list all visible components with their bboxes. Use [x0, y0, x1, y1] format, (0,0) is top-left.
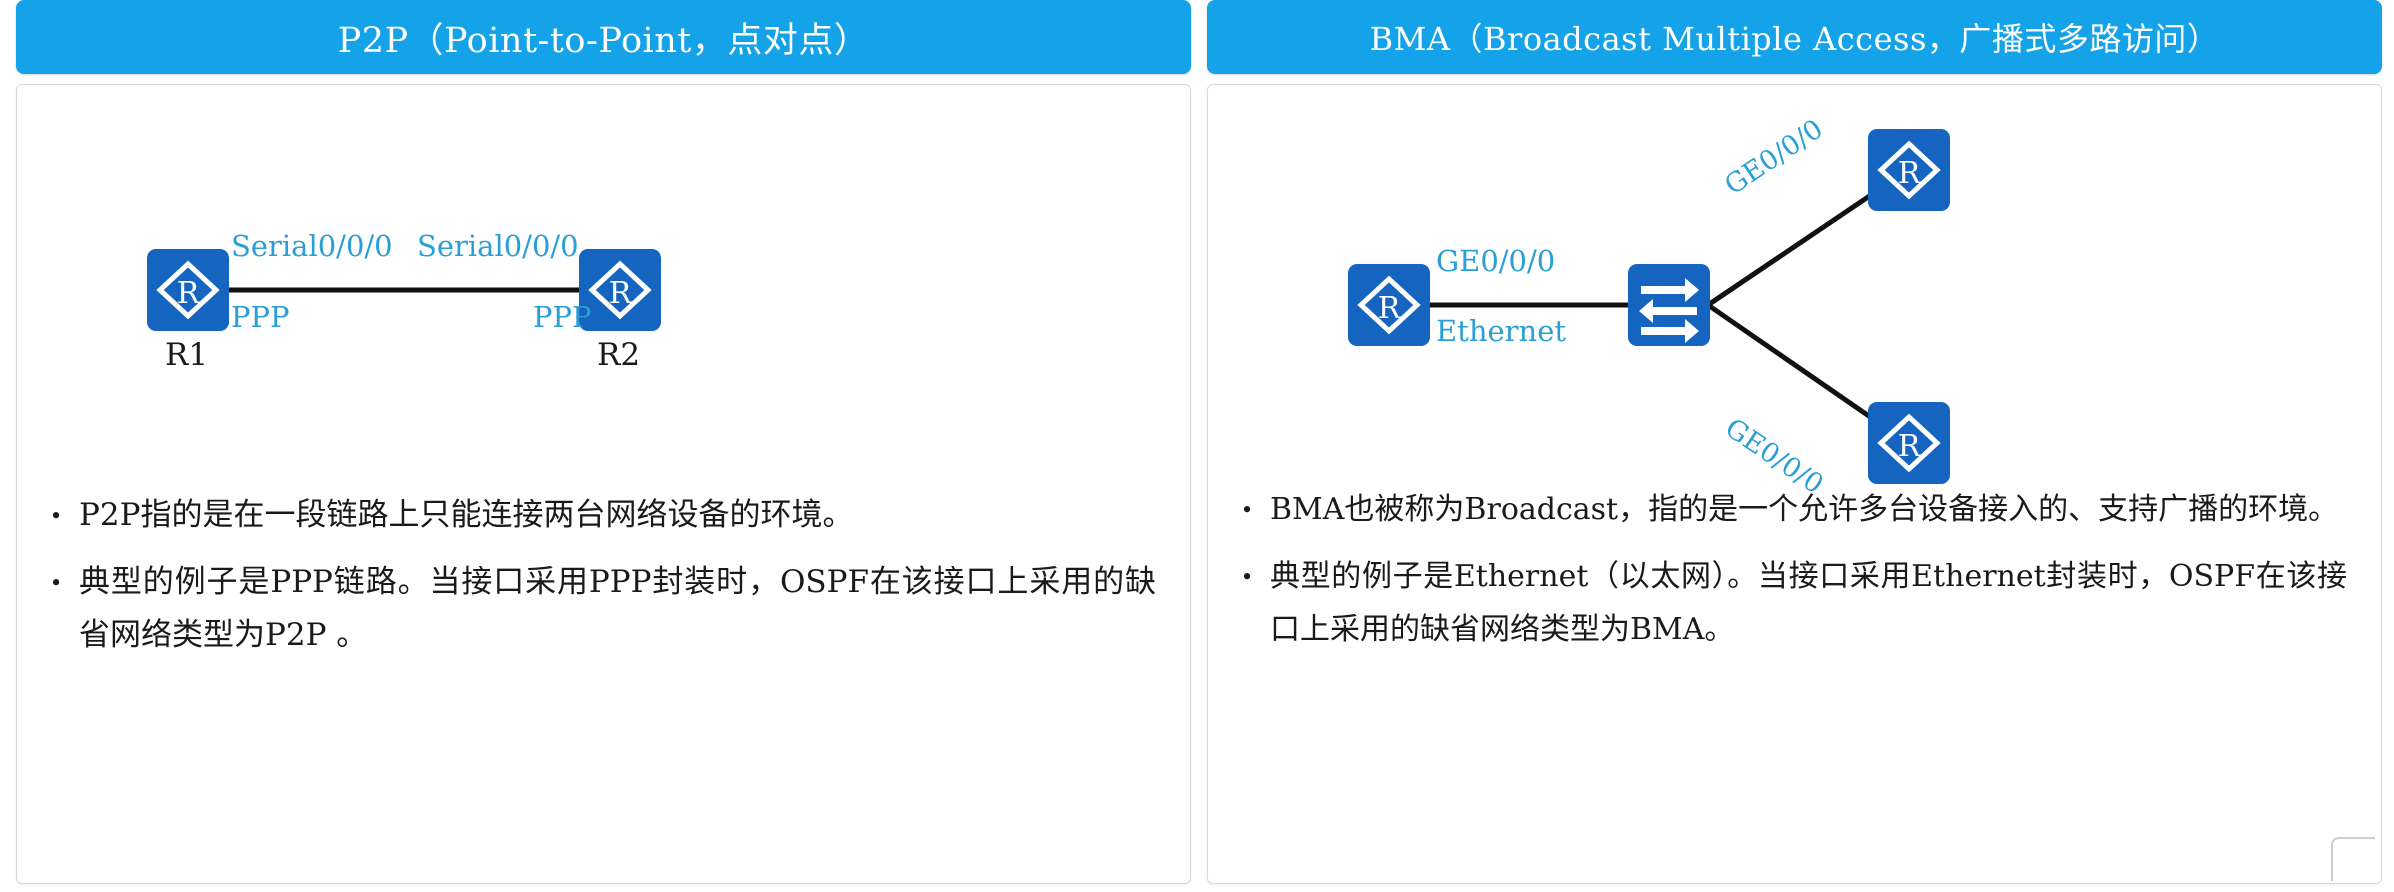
svg-text:R: R	[609, 276, 633, 311]
label-p2p-left-interface: Serial0/0/0	[231, 229, 393, 263]
panel-p2p-header: P2P（Point-to-Point，点对点）	[16, 0, 1191, 74]
svg-text:R: R	[1898, 429, 1922, 464]
bma-bullet-list: • BMA也被称为Broadcast，指的是一个允许多台设备接入的、支持广播的环…	[1208, 483, 2381, 670]
panel-p2p-body: R R Serial0/0/0 Serial0/0/0 PPP PPP R1 R…	[16, 84, 1191, 884]
panel-bma-body: R R	[1207, 84, 2382, 884]
svg-text:R: R	[177, 276, 201, 311]
panel-bma-header: BMA（Broadcast Multiple Access，广播式多路访问）	[1207, 0, 2382, 74]
svg-text:R: R	[1378, 291, 1402, 326]
svg-text:R: R	[1898, 156, 1922, 191]
panel-bma: BMA（Broadcast Multiple Access，广播式多路访问） R	[1207, 0, 2382, 892]
label-router-name-r2: R2	[597, 337, 640, 373]
bullet-marker: •	[33, 556, 79, 609]
label-bma-left-encapsulation: Ethernet	[1436, 314, 1566, 348]
bma-topology-diagram: R R	[1208, 85, 2381, 495]
bullet-marker: •	[1224, 550, 1270, 603]
switch-icon[interactable]	[1628, 264, 1710, 346]
p2p-bullet-2: 典型的例子是PPP链路。当接口采用PPP封装时，OSPF在该接口上采用的缺省网络…	[79, 556, 1156, 662]
bullet-marker: •	[1224, 483, 1270, 536]
bullet-marker: •	[33, 489, 79, 542]
slide-canvas: P2P（Point-to-Point，点对点） R	[0, 0, 2394, 892]
panel-bma-title: BMA（Broadcast Multiple Access，广播式多路访问）	[1370, 14, 2220, 60]
router-icon-r1[interactable]: R	[147, 249, 229, 331]
bma-bullet-1: BMA也被称为Broadcast，指的是一个允许多台设备接入的、支持广播的环境。	[1270, 483, 2347, 536]
list-item: • BMA也被称为Broadcast，指的是一个允许多台设备接入的、支持广播的环…	[1224, 483, 2347, 536]
p2p-bullet-1: P2P指的是在一段链路上只能连接两台网络设备的环境。	[79, 489, 1156, 542]
router-icon-bma-bottom[interactable]: R	[1868, 402, 1950, 484]
p2p-topology-diagram: R R Serial0/0/0 Serial0/0/0 PPP PPP R1 R…	[17, 85, 1190, 495]
label-router-name-r1: R1	[165, 337, 208, 373]
scroll-corner-nub[interactable]	[2331, 837, 2375, 881]
bma-bullet-2: 典型的例子是Ethernet（以太网）。当接口采用Ethernet封装时，OSP…	[1270, 550, 2347, 656]
label-bma-left-interface: GE0/0/0	[1436, 244, 1555, 278]
panel-p2p-title: P2P（Point-to-Point，点对点）	[338, 12, 870, 63]
list-item: • 典型的例子是Ethernet（以太网）。当接口采用Ethernet封装时，O…	[1224, 550, 2347, 656]
router-icon-bma-top[interactable]: R	[1868, 129, 1950, 211]
p2p-bullet-list: • P2P指的是在一段链路上只能连接两台网络设备的环境。 • 典型的例子是PPP…	[17, 489, 1190, 676]
label-p2p-right-interface: Serial0/0/0	[417, 229, 579, 263]
list-item: • P2P指的是在一段链路上只能连接两台网络设备的环境。	[33, 489, 1156, 542]
panel-p2p: P2P（Point-to-Point，点对点） R	[16, 0, 1191, 892]
label-p2p-right-encapsulation: PPP	[533, 300, 592, 334]
router-icon-bma-left[interactable]: R	[1348, 264, 1430, 346]
list-item: • 典型的例子是PPP链路。当接口采用PPP封装时，OSPF在该接口上采用的缺省…	[33, 556, 1156, 662]
label-p2p-left-encapsulation: PPP	[231, 300, 290, 334]
